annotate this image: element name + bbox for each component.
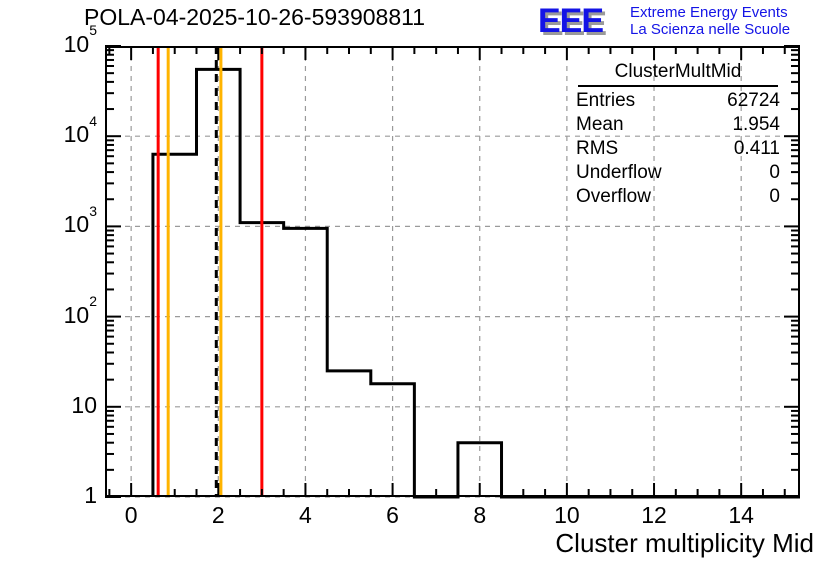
y-axis-tick-label: 105 — [64, 33, 97, 56]
x-axis-tick-label: 8 — [450, 504, 510, 527]
stats-row-label: RMS — [576, 137, 618, 161]
y-axis-tick-label: 104 — [64, 123, 97, 146]
stats-box: ClusterMultMid Entries62724Mean1.954RMS0… — [572, 60, 784, 209]
x-axis-title: Cluster multiplicity Mid — [555, 528, 814, 559]
stats-row: Underflow0 — [572, 161, 784, 185]
x-axis-tick-label: 10 — [537, 504, 597, 527]
stats-row: Entries62724 — [572, 89, 784, 113]
x-axis-tick-label: 0 — [101, 504, 161, 527]
stats-row-label: Entries — [576, 89, 635, 113]
x-axis-tick-label: 14 — [711, 504, 771, 527]
stats-row-value: 62724 — [727, 89, 780, 113]
stats-row-label: Overflow — [576, 185, 651, 209]
canvas: POLA-04-2025-10-26-593908811 EEE EEE Ext… — [0, 0, 836, 572]
x-axis-tick-label: 6 — [363, 504, 423, 527]
y-axis-tick-label: 1 — [84, 484, 97, 507]
x-axis-tick-label: 4 — [275, 504, 335, 527]
stats-row-value: 0 — [769, 161, 780, 185]
stats-row: RMS0.411 — [572, 137, 784, 161]
stats-row: Overflow0 — [572, 185, 784, 209]
stats-row-value: 1.954 — [732, 113, 780, 137]
x-axis-tick-label: 2 — [188, 504, 248, 527]
y-axis-tick-label: 103 — [64, 213, 97, 236]
x-axis-tick-label: 12 — [624, 504, 684, 527]
y-axis-tick-label: 10 — [71, 394, 97, 417]
stats-row: Mean1.954 — [572, 113, 784, 137]
stats-row-label: Underflow — [576, 161, 662, 185]
stats-row-value: 0 — [769, 185, 780, 209]
stats-row-value: 0.411 — [734, 137, 780, 161]
stats-row-label: Mean — [576, 113, 624, 137]
y-axis-tick-label: 102 — [64, 304, 97, 327]
stats-title: ClusterMultMid — [578, 60, 778, 87]
